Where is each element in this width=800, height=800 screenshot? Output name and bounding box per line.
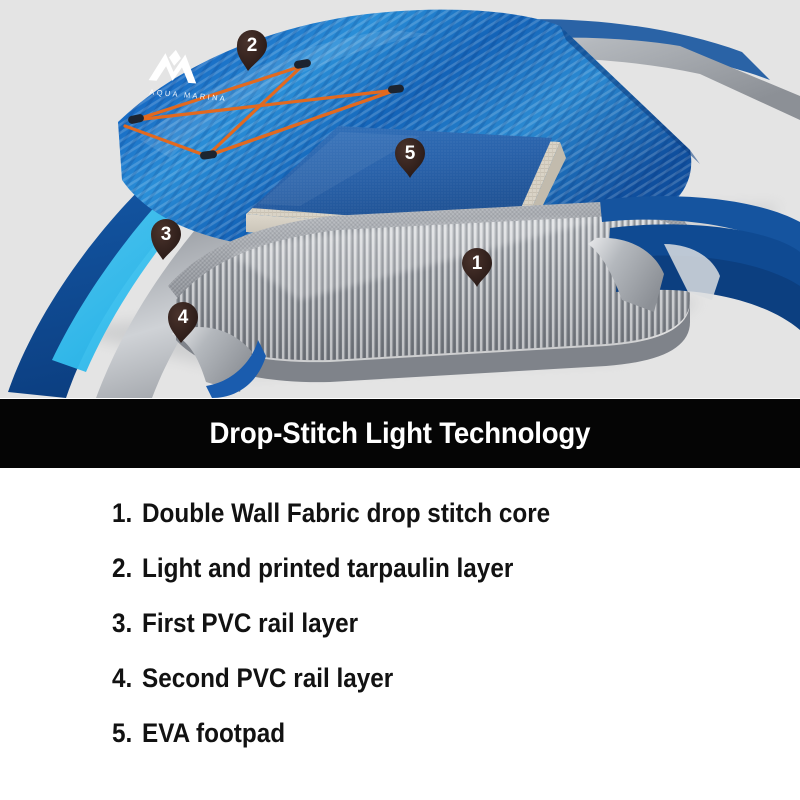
marker-5-label: 5 <box>405 143 416 164</box>
title-banner: Drop-Stitch Light Technology <box>0 399 800 468</box>
list-item: 4. Second PVC rail layer <box>0 651 800 706</box>
legend-list: 1. Double Wall Fabric drop stitch core 2… <box>0 468 800 800</box>
list-item-number: 4. <box>112 663 132 694</box>
page-title: Drop-Stitch Light Technology <box>210 417 591 451</box>
list-item: 5. EVA footpad <box>0 706 800 761</box>
marker-2-label: 2 <box>247 35 258 56</box>
sup-board-exploded-diagram: AQUA MARINA 1 2 3 <box>0 0 800 398</box>
list-item-number: 1. <box>112 498 132 529</box>
list-item-label: Double Wall Fabric drop stitch core <box>142 498 550 529</box>
marker-1-label: 1 <box>472 253 483 274</box>
marker-3-label: 3 <box>161 224 172 245</box>
list-item-label: EVA footpad <box>142 718 285 749</box>
list-item-label: First PVC rail layer <box>142 608 358 639</box>
list-item: 1. Double Wall Fabric drop stitch core <box>0 486 800 541</box>
list-item-number: 2. <box>112 553 132 584</box>
list-item-label: Second PVC rail layer <box>142 663 393 694</box>
infographic-page: AQUA MARINA 1 2 3 <box>0 0 800 800</box>
list-item: 2. Light and printed tarpaulin layer <box>0 541 800 596</box>
list-item-label: Light and printed tarpaulin layer <box>142 553 513 584</box>
marker-4-label: 4 <box>178 307 189 328</box>
list-item-number: 3. <box>112 608 132 639</box>
list-item-number: 5. <box>112 718 132 749</box>
list-item: 3. First PVC rail layer <box>0 596 800 651</box>
